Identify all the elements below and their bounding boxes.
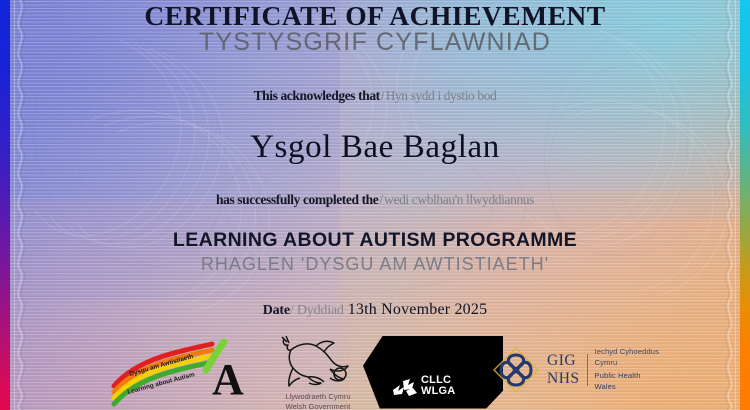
recipient-name: Ysgol Bae Baglan: [0, 128, 750, 168]
phw-name-english-line2: Wales: [595, 382, 660, 393]
public-health-wales-nhs-logo: GIG NHS Iechyd Cyhoeddus Cymru Public He…: [491, 342, 666, 398]
wlga-text: CLLC WLGA: [421, 375, 455, 398]
welsh-government-caption-english: Welsh Government: [258, 402, 378, 410]
welsh-dragon-icon: [258, 334, 378, 392]
wlga-dragon-mark-icon: [391, 376, 419, 398]
wlga-black-shape: [363, 336, 503, 410]
welsh-government-caption-welsh: Llywodraeth Cymru: [258, 392, 378, 402]
phw-divider-rule: [587, 354, 588, 386]
date-label-english: Date: [263, 303, 290, 318]
programme-name-english: LEARNING ABOUT AUTISM PROGRAMME: [0, 229, 750, 251]
date-line: Date/ Dyddiad13th November 2025: [0, 300, 750, 320]
phw-organisation-name: Iechyd Cyhoeddus Cymru Public Health Wal…: [595, 347, 660, 392]
certificate-page: CERTIFICATE OF ACHIEVEMENT TYSTYSGRIF CY…: [0, 0, 750, 410]
certificate-title-english: CERTIFICATE OF ACHIEVEMENT: [0, 1, 750, 31]
wlga-line-wlga: WLGA: [421, 386, 455, 398]
phw-name-welsh-line1: Iechyd Cyhoeddus: [595, 347, 660, 358]
welsh-government-logo: Llywodraeth Cymru Welsh Government: [258, 334, 378, 410]
date-value: 13th November 2025: [344, 301, 488, 318]
completion-welsh: wedi cwblhau'n llwyddiannus: [384, 192, 534, 207]
programme-name-welsh: RHAGLEN 'DYSGU AM AWTISTIAETH': [0, 254, 750, 275]
gig-label: GIG: [547, 352, 580, 370]
date-label-welsh: / Dyddiad: [290, 303, 344, 318]
acknowledgement-english: This acknowledges that: [254, 88, 380, 103]
certificate-title-welsh: TYSTYSGRIF CYFLAWNIAD: [0, 29, 750, 57]
svg-text:A: A: [212, 355, 244, 404]
acknowledgement-line: This acknowledges that/Hyn sydd i dystio…: [0, 88, 750, 104]
completion-english: has successfully completed the: [216, 192, 378, 207]
welsh-government-caption: Llywodraeth Cymru Welsh Government: [258, 392, 378, 410]
cllc-wlga-logo: CLLC WLGA: [363, 336, 503, 410]
phw-name-welsh-line2: Cymru: [595, 358, 660, 369]
celtic-knot-icon: [491, 345, 541, 395]
logo-strip: A Dysgu am Awtistiaeth Learning about Au…: [14, 332, 736, 410]
completion-line: has successfully completed the/wedi cwbl…: [0, 192, 750, 208]
gig-nhs-wordmark: GIG NHS: [541, 352, 580, 389]
acknowledgement-welsh: Hyn sydd i dystio bod: [386, 88, 497, 103]
nhs-label: NHS: [547, 370, 580, 388]
learning-about-autism-logo: A Dysgu am Awtistiaeth Learning about Au…: [108, 336, 256, 408]
autism-rainbow-icon: A Dysgu am Awtistiaeth Learning about Au…: [108, 336, 256, 408]
phw-name-english-line1: Public Health: [595, 371, 660, 382]
